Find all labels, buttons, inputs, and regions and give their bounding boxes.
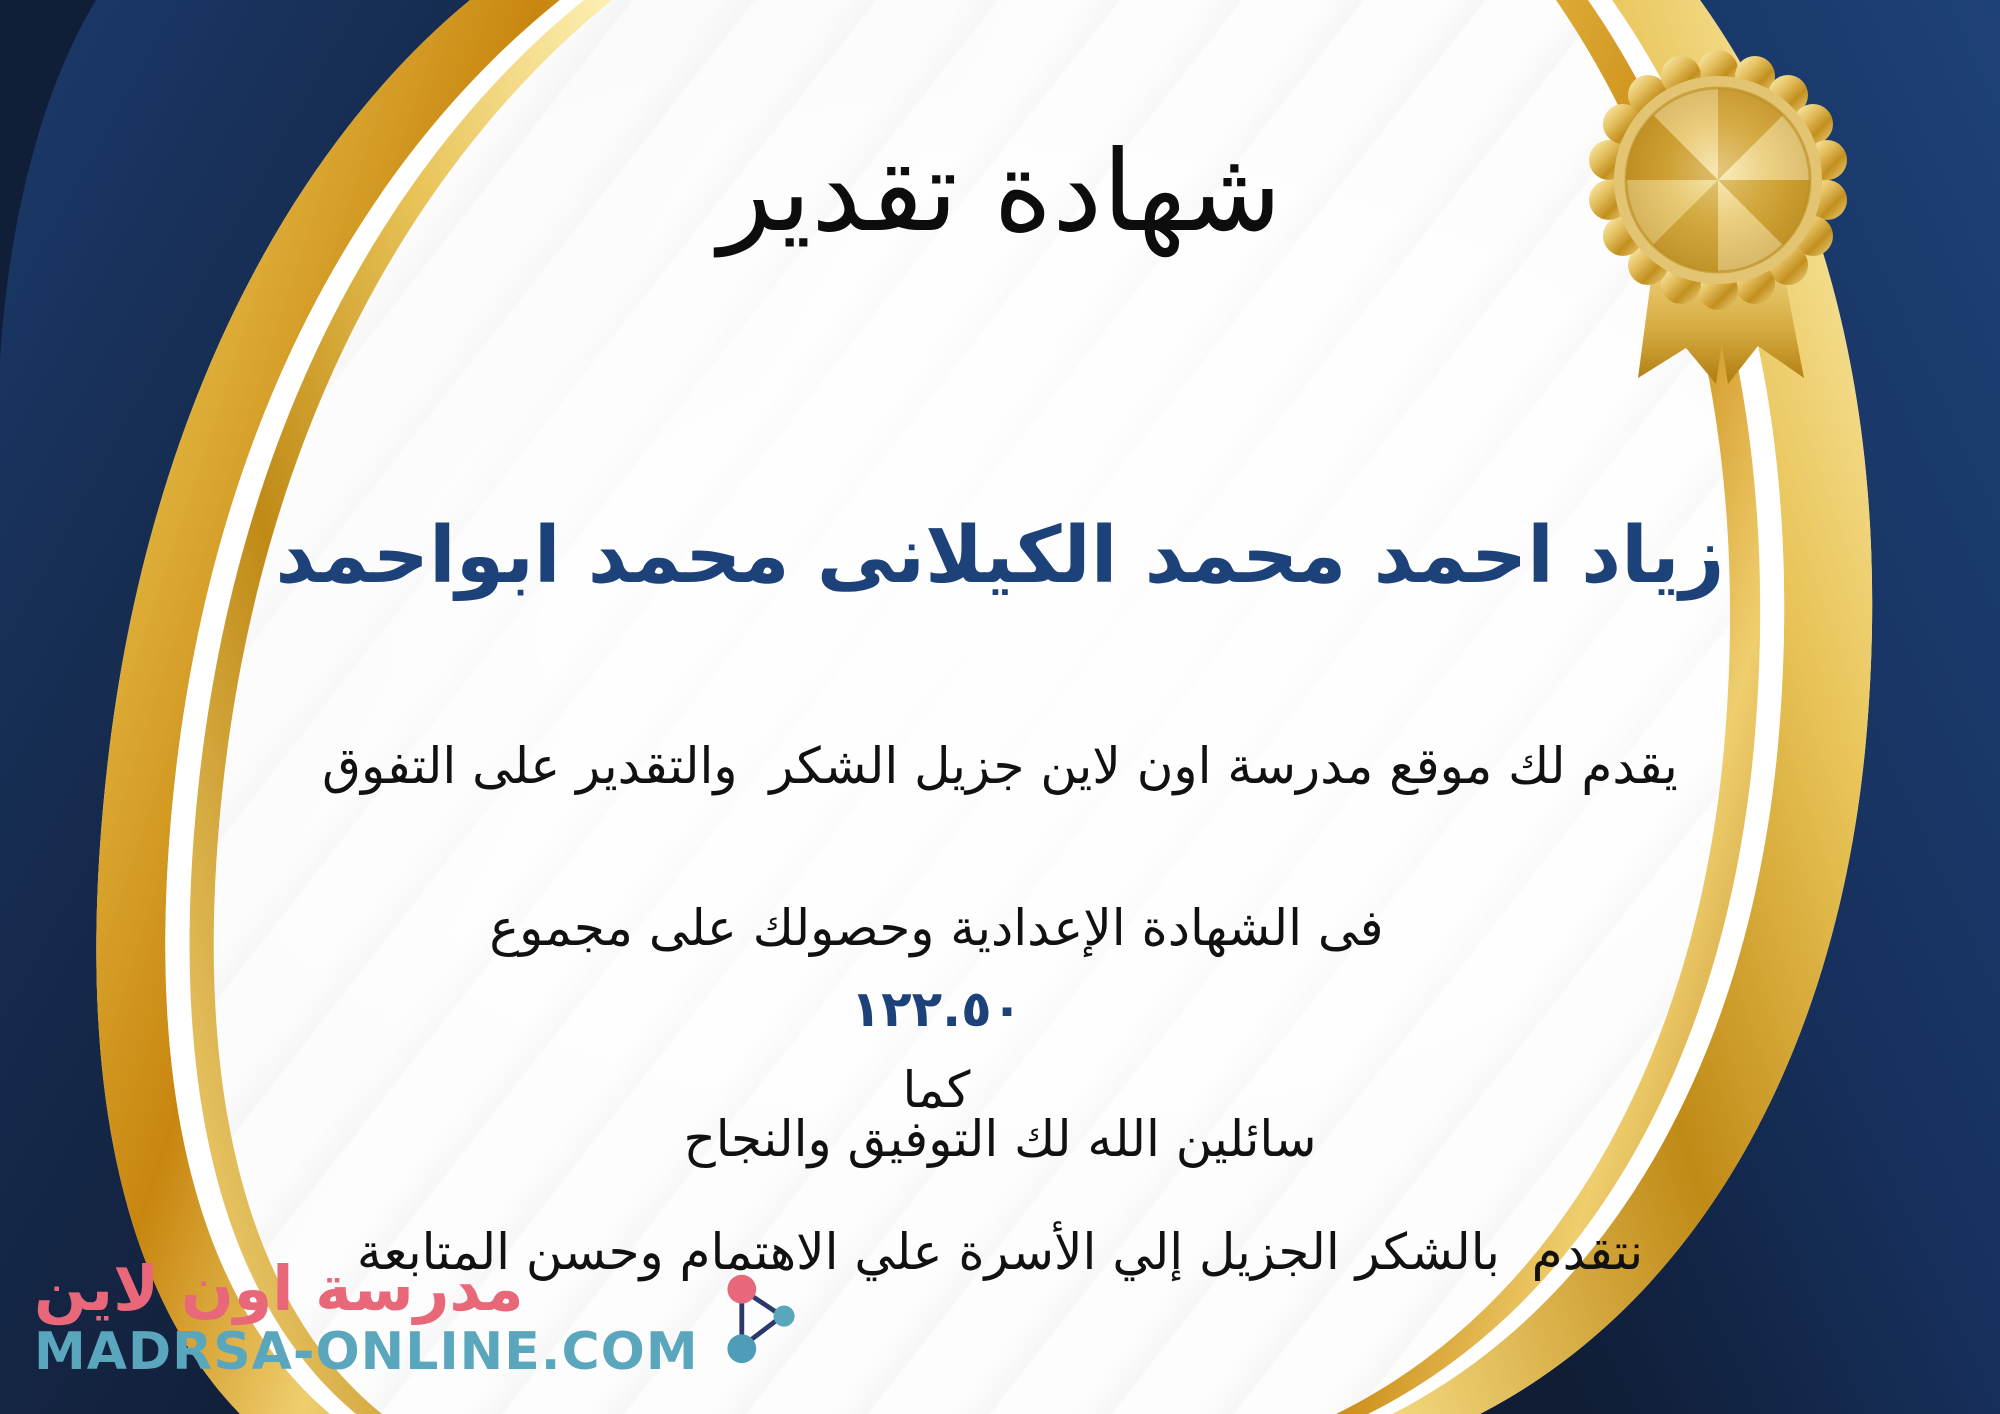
certificate-body: يقدم لك موقع مدرسة اون لاين جزيل الشكر و… [60, 726, 1940, 1293]
total-grade-value: ١٢٢.٥٠ [851, 980, 1023, 1038]
brand-arabic-name: مدرسة اون لاين [34, 1258, 524, 1320]
brand-logo[interactable]: مدرسة اون لاين MADRSA-ONLINE.COM [34, 1258, 809, 1378]
network-nodes-icon [713, 1266, 809, 1370]
recipient-name: زياد احمد محمد الكيلانى محمد ابواحمد [0, 510, 2000, 604]
brand-logo-text: مدرسة اون لاين MADRSA-ONLINE.COM [34, 1258, 699, 1378]
certificate-page: شهادة تقدير زياد احمد محمد الكيلانى محمد… [0, 0, 2000, 1414]
body-line-1: يقدم لك موقع مدرسة اون لاين جزيل الشكر و… [60, 726, 1940, 807]
certificate-title: شهادة تقدير [0, 128, 2000, 257]
closing-wish-line: سائلين الله لك التوفيق والنجاح [0, 1110, 2000, 1168]
body-line-2-prefix: فى الشهادة الإعدادية وحصولك على مجموع [489, 899, 1383, 957]
certificate-content: شهادة تقدير زياد احمد محمد الكيلانى محمد… [0, 0, 2000, 1414]
brand-website-url: MADRSA-ONLINE.COM [34, 1326, 699, 1378]
